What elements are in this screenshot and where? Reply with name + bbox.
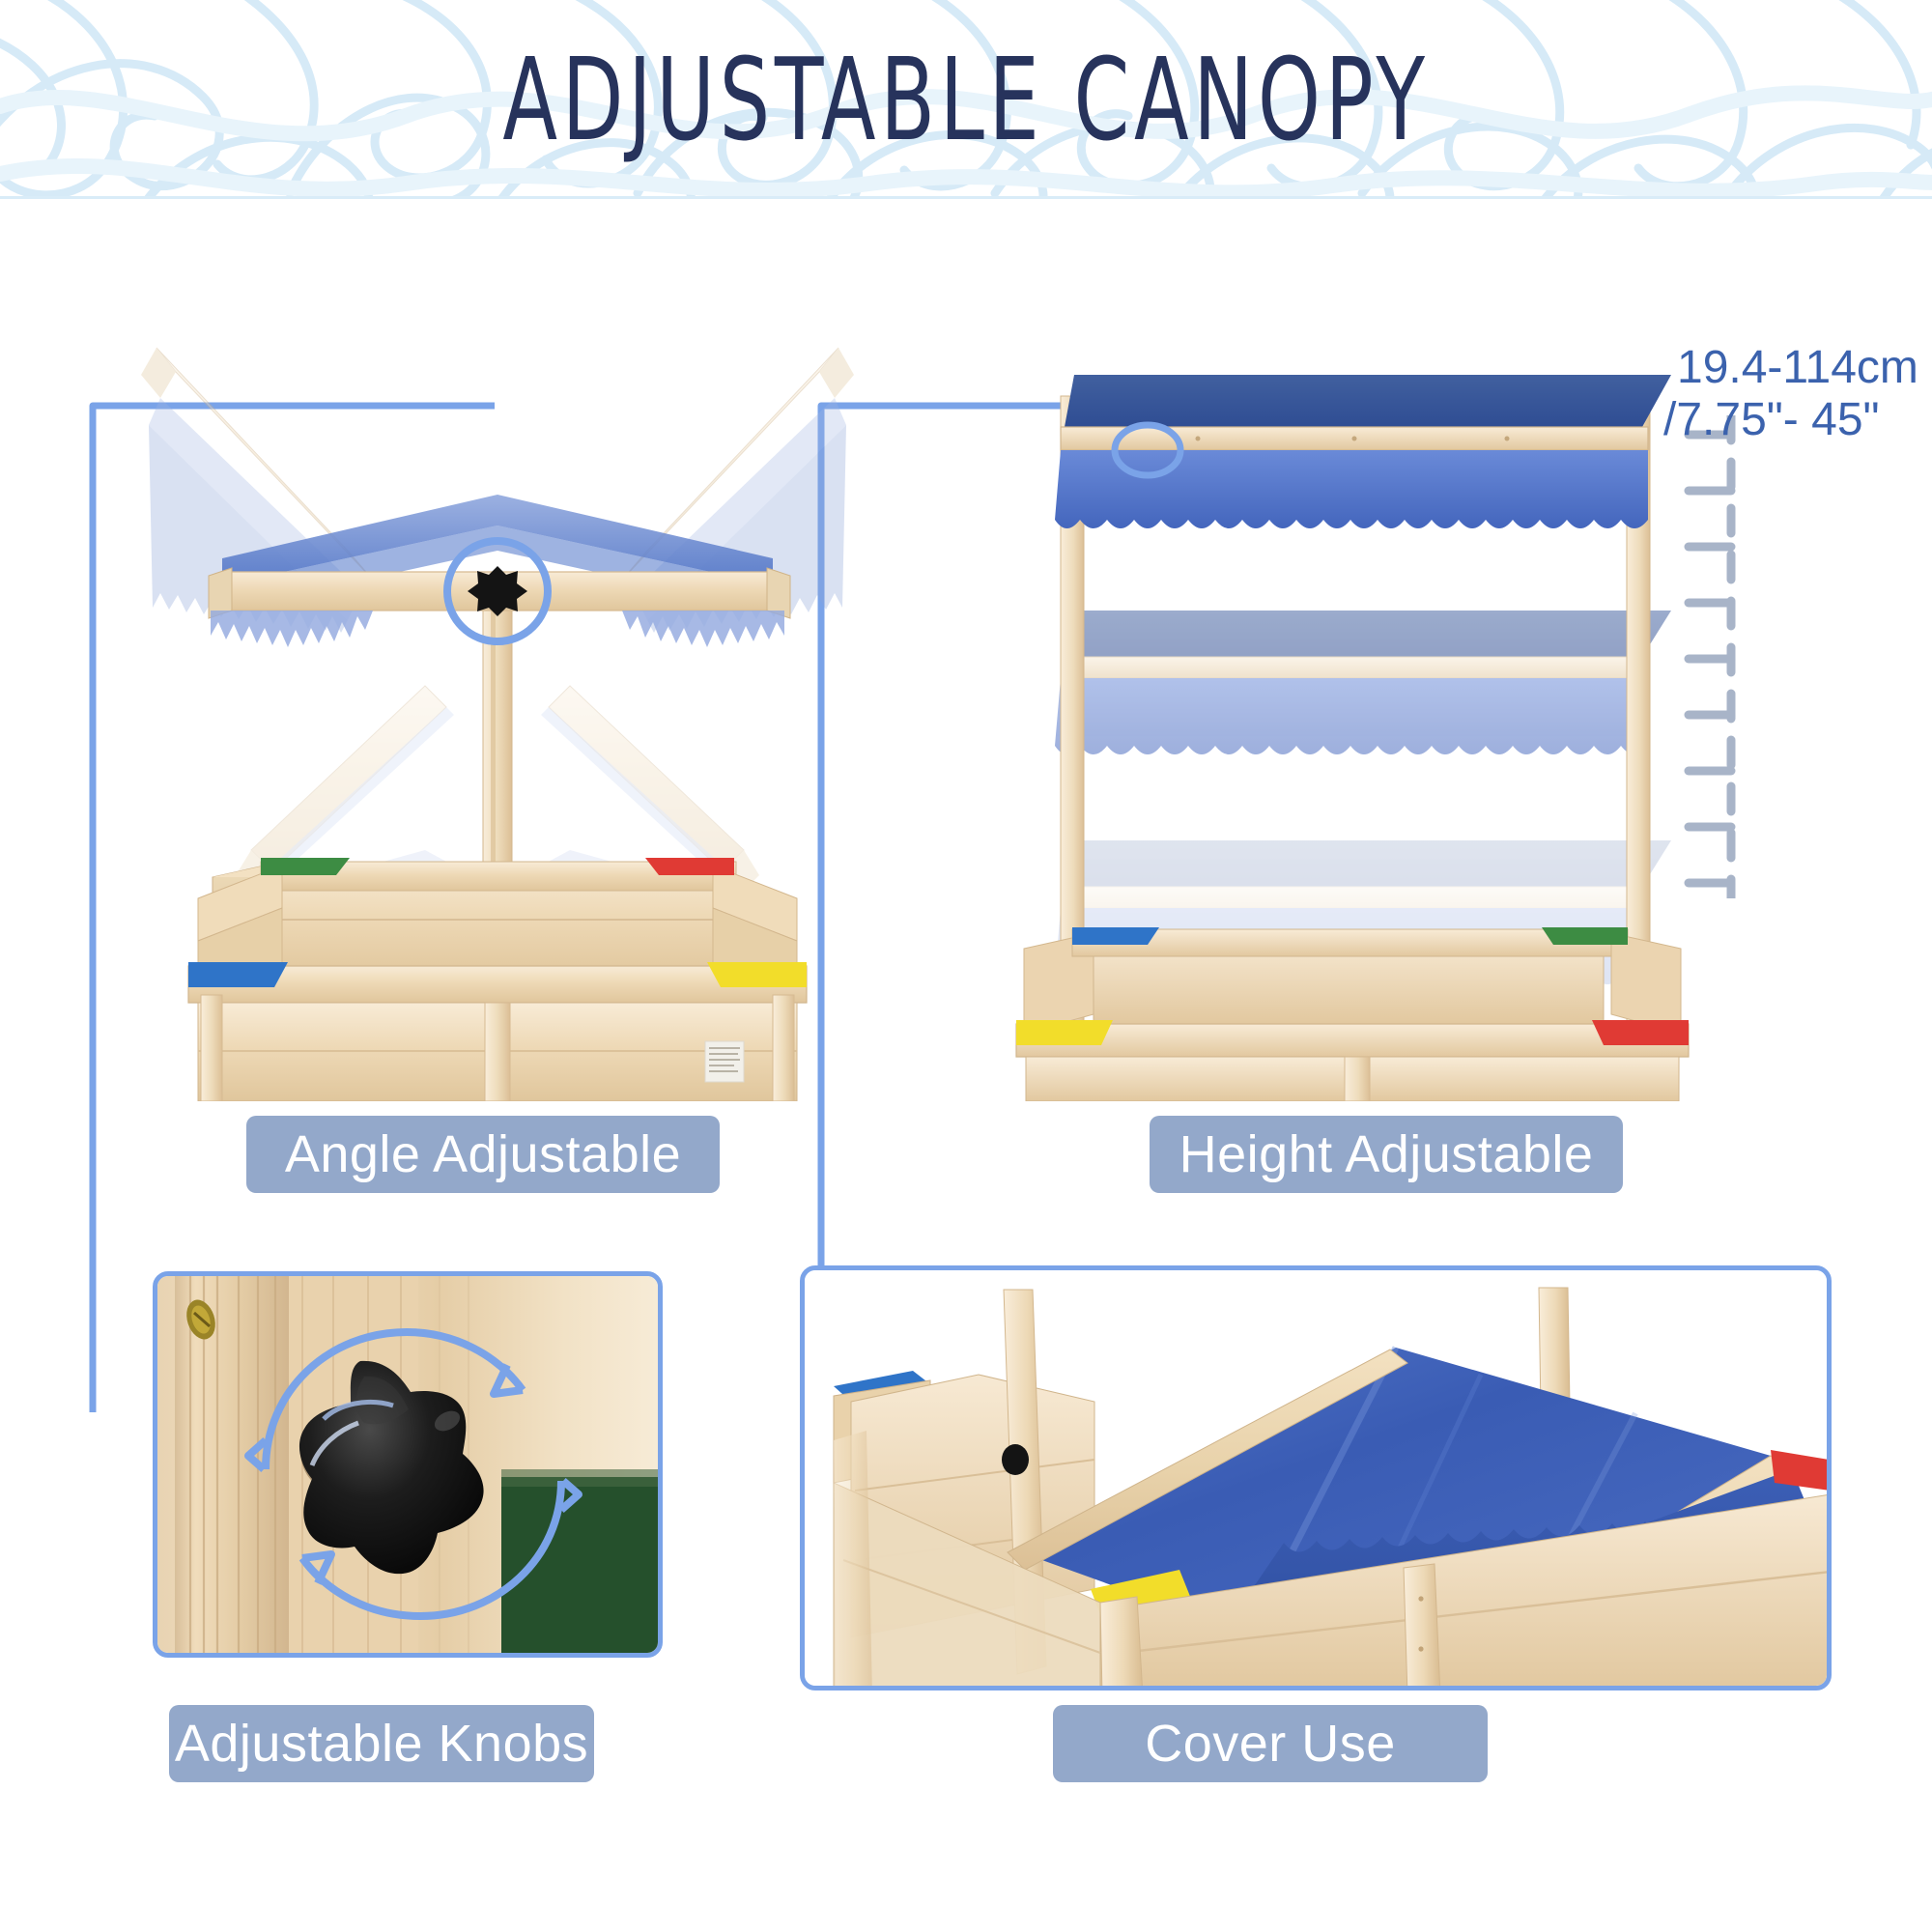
canopy-level-top [1055,375,1671,528]
angle-adjustable-illustration [106,232,889,1101]
corner-cap-back-right [1542,927,1628,945]
header: ADJUSTABLE CANOPY [0,0,1932,199]
caption-cover-use: Cover Use [1053,1705,1488,1782]
corner-cap-front-right [1592,1020,1689,1045]
star-knob-small [1002,1444,1029,1475]
panel-angle-adjustable [106,232,889,1101]
photo-adjustable-knobs [153,1271,663,1658]
corner-cap-front-right [707,962,807,987]
dimension-line-1: 19.4-114cm [1677,340,1918,396]
knob-photo-content [157,1276,663,1658]
corner-cap-front-left [188,962,288,987]
header-divider-band [0,196,1932,199]
panel-height-adjustable [1005,357,1777,1101]
page-title: ADJUSTABLE CANOPY [213,27,1719,172]
caption-height-adjustable: Height Adjustable [1150,1116,1623,1193]
height-adjustable-illustration [1005,357,1777,1101]
caption-adjustable-knobs: Adjustable Knobs [169,1705,594,1782]
corner-cap-front-left [1016,1020,1113,1045]
caption-angle-adjustable: Angle Adjustable [246,1116,720,1193]
photo-cover-use [800,1265,1832,1690]
corner-cap-back-left [261,858,350,875]
sandbox-base-height [1016,927,1689,1101]
canopy-level-mid [1055,611,1671,754]
cover-use-photo-content [805,1270,1832,1690]
infographic-root: ADJUSTABLE CANOPY [0,0,1932,1932]
dimension-line-2: /7.75"- 45" [1663,392,1880,448]
corner-cap-back-left [1072,927,1159,945]
corner-cap-back-right [645,858,734,875]
